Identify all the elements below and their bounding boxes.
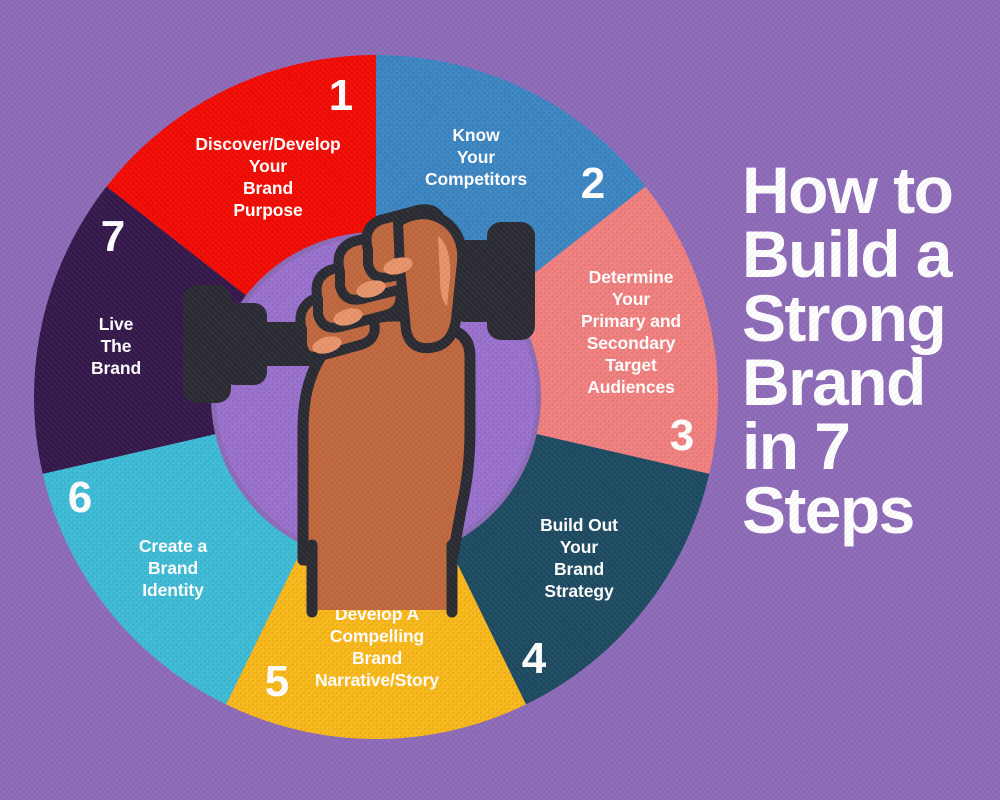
segment-number-6: 6 xyxy=(68,473,92,522)
segment-number-4: 4 xyxy=(522,634,547,683)
segment-number-2: 2 xyxy=(581,159,605,208)
segment-number-5: 5 xyxy=(265,657,289,706)
seven-steps-wheel: 1Discover/DevelopYourBrandPurpose2KnowYo… xyxy=(0,0,760,800)
wheel-svg: 1Discover/DevelopYourBrandPurpose2KnowYo… xyxy=(0,0,760,800)
segment-number-3: 3 xyxy=(670,411,694,460)
segment-number-7: 7 xyxy=(101,212,125,261)
segment-label-6: Create aBrandIdentity xyxy=(139,536,208,600)
page-title: How to Build a Strong Brand in 7 Steps xyxy=(742,158,1000,542)
segment-number-1: 1 xyxy=(329,71,353,120)
fist-arm xyxy=(300,209,470,612)
infographic-poster: 1Discover/DevelopYourBrandPurpose2KnowYo… xyxy=(0,0,1000,800)
